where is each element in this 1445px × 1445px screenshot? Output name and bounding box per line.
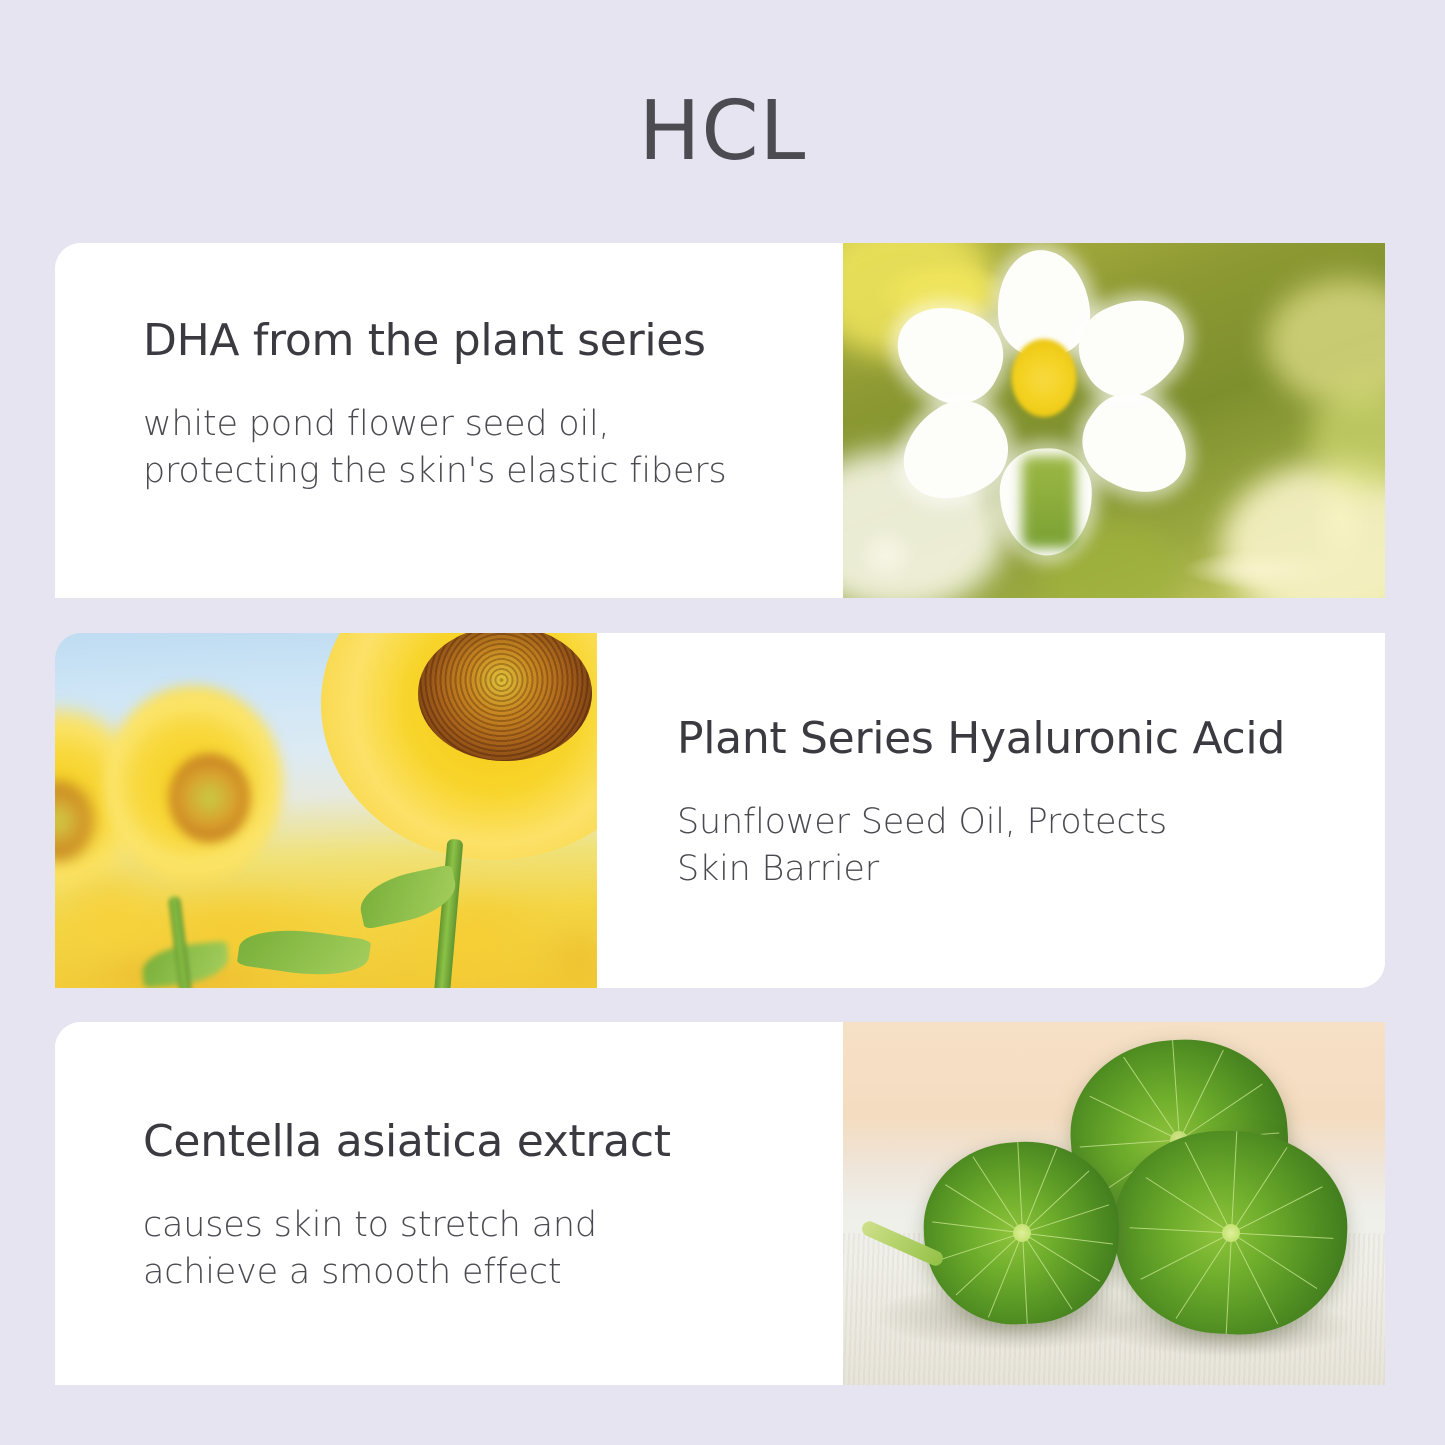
flower-center xyxy=(1011,339,1076,417)
card-heading: Centella asiatica extract xyxy=(143,1118,671,1168)
card-heading: DHA from the plant series xyxy=(143,317,706,367)
card-image-pane xyxy=(843,243,1385,598)
card-text-block: Plant Series Hyaluronic Acid Sunflower S… xyxy=(677,715,1285,892)
ingredient-card-hyaluronic-acid: Plant Series Hyaluronic Acid Sunflower S… xyxy=(55,633,1385,988)
card-heading-label: Plant Series Hyaluronic Acid xyxy=(677,713,1285,764)
sunflower-field-photo xyxy=(55,633,597,988)
card-text-block: DHA from the plant series white pond flo… xyxy=(143,317,726,494)
card-body-text: white pond flower seed oil, protecting t… xyxy=(143,401,726,493)
meadowfoam-white-pond-flower-photo xyxy=(843,243,1385,598)
ingredient-card-centella: Centella asiatica extract causes skin to… xyxy=(55,1022,1385,1385)
card-text-pane: DHA from the plant series white pond flo… xyxy=(55,243,843,598)
card-text-pane: Plant Series Hyaluronic Acid Sunflower S… xyxy=(597,633,1385,988)
card-body-text: causes skin to stretch and achieve a smo… xyxy=(143,1202,671,1294)
centella-asiatica-leaves-photo xyxy=(843,1022,1385,1385)
card-heading-label: DHA from the plant series xyxy=(143,315,706,366)
card-body-text: Sunflower Seed Oil, Protects Skin Barrie… xyxy=(677,799,1285,891)
card-text-block: Centella asiatica extract causes skin to… xyxy=(143,1118,671,1295)
card-image-pane xyxy=(843,1022,1385,1385)
card-text-pane: Centella asiatica extract causes skin to… xyxy=(55,1022,843,1385)
product-ingredient-infographic: HCL DHA from the plant series white pond… xyxy=(0,0,1445,1445)
card-heading: Plant Series Hyaluronic Acid xyxy=(677,715,1285,765)
ingredient-card-dha: DHA from the plant series white pond flo… xyxy=(55,243,1385,598)
page-title: HCL xyxy=(0,84,1445,179)
card-image-pane xyxy=(55,633,597,988)
card-heading-label: Centella asiatica extract xyxy=(143,1116,671,1167)
